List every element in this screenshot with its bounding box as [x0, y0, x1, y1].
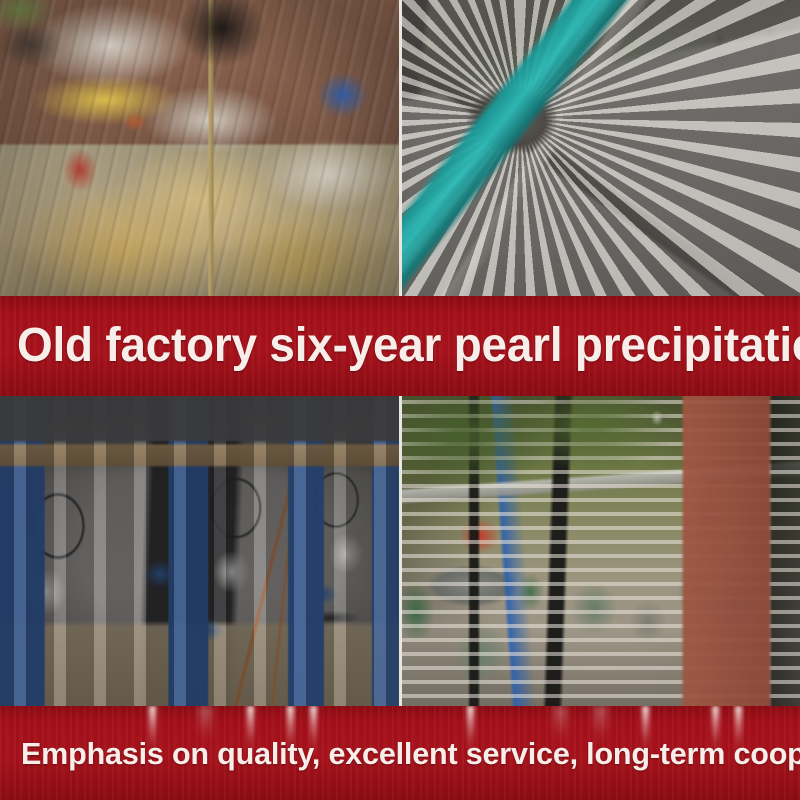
photo-top-left	[0, 0, 399, 298]
photo-bottom-right	[402, 396, 800, 708]
photo-bottom-left	[0, 396, 399, 708]
headline-text: Old factory six-year pearl precipitation	[17, 322, 800, 370]
top-photo-row	[0, 0, 800, 298]
outdoor-workshop-basins-image	[402, 396, 800, 708]
subline-banner: Emphasis on quality, excellent service, …	[0, 706, 800, 800]
drill-chuck-plastic-shavings-image	[402, 0, 800, 298]
product-poster: Old factory six-year pearl precipitation…	[0, 0, 800, 800]
cnc-engraving-machine-row-image	[0, 396, 399, 708]
subline-text: Emphasis on quality, excellent service, …	[21, 738, 800, 769]
headline-banner: Old factory six-year pearl precipitation	[0, 296, 800, 396]
photo-top-right	[402, 0, 800, 298]
stacked-feed-sacks-warehouse-yard-image	[0, 0, 399, 298]
bottom-photo-row	[0, 396, 800, 708]
